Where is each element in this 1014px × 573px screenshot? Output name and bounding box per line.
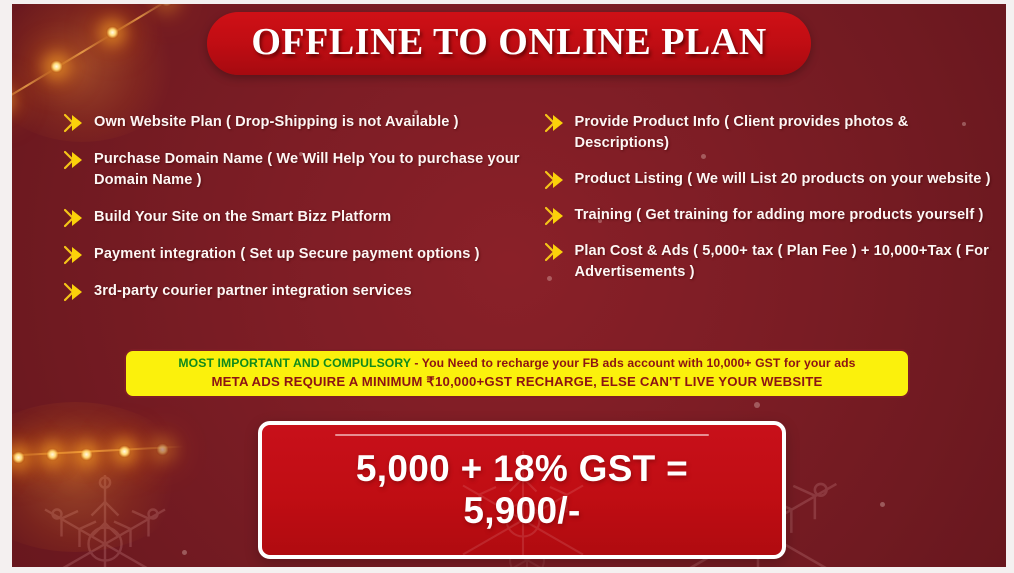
list-item: Plan Cost & Ads ( 5,000+ tax ( Plan Fee … [545,241,996,283]
double-chevron-icon [545,206,567,226]
list-item: Training ( Get training for adding more … [545,205,996,226]
price-amount: 5,000 + 18% GST = 5,900/- [356,448,688,532]
snowflake-icon [30,469,180,567]
speck [754,402,760,408]
features-columns: Own Website Plan ( Drop-Shipping is not … [64,112,996,318]
double-chevron-icon [64,113,86,133]
notice-emphasis: MOST IMPORTANT AND COMPULSORY [178,356,410,370]
notice-line-2: META ADS REQUIRE A MINIMUM ₹10,000+GST R… [136,374,898,391]
list-item: Build Your Site on the Smart Bizz Platfo… [64,207,539,228]
double-chevron-icon [64,245,86,265]
poster-title-container: OFFLINE TO ONLINE PLAN [12,12,1006,75]
list-item: 3rd-party courier partner integration se… [64,281,539,302]
left-feature-column: Own Website Plan ( Drop-Shipping is not … [64,112,539,318]
title-pill: OFFLINE TO ONLINE PLAN [207,12,810,75]
list-item-label: Build Your Site on the Smart Bizz Platfo… [94,207,391,228]
list-item-label: Plan Cost & Ads ( 5,000+ tax ( Plan Fee … [575,241,996,283]
poster-root: OFFLINE TO ONLINE PLAN Own Website Plan … [0,0,1014,573]
list-item-label: Payment integration ( Set up Secure paym… [94,244,480,265]
price-divider [335,434,709,436]
price-box: 5,000 + 18% GST = 5,900/- [258,421,786,559]
compulsory-notice-banner: MOST IMPORTANT AND COMPULSORY - You Need… [124,349,910,398]
double-chevron-icon [64,150,86,170]
page-title: OFFLINE TO ONLINE PLAN [251,20,766,64]
list-item: Product Listing ( We will List 20 produc… [545,169,996,190]
right-feature-column: Provide Product Info ( Client provides p… [545,112,996,318]
notice-line-1: MOST IMPORTANT AND COMPULSORY - You Need… [136,356,898,372]
double-chevron-icon [64,282,86,302]
list-item: Payment integration ( Set up Secure paym… [64,244,539,265]
list-item: Own Website Plan ( Drop-Shipping is not … [64,112,539,133]
double-chevron-icon [545,113,567,133]
speck [880,502,885,507]
list-item-label: Training ( Get training for adding more … [575,205,984,226]
poster-canvas: OFFLINE TO ONLINE PLAN Own Website Plan … [12,4,1006,567]
list-item-label: Purchase Domain Name ( We Will Help You … [94,149,539,191]
list-item: Provide Product Info ( Client provides p… [545,112,996,154]
notice-detail: - You Need to recharge your FB ads accou… [411,356,856,370]
speck [182,550,187,555]
list-item-label: Own Website Plan ( Drop-Shipping is not … [94,112,459,133]
double-chevron-icon [64,208,86,228]
list-item: Purchase Domain Name ( We Will Help You … [64,149,539,191]
double-chevron-icon [545,170,567,190]
list-item-label: 3rd-party courier partner integration se… [94,281,412,302]
double-chevron-icon [545,242,567,262]
list-item-label: Product Listing ( We will List 20 produc… [575,169,991,190]
list-item-label: Provide Product Info ( Client provides p… [575,112,996,154]
